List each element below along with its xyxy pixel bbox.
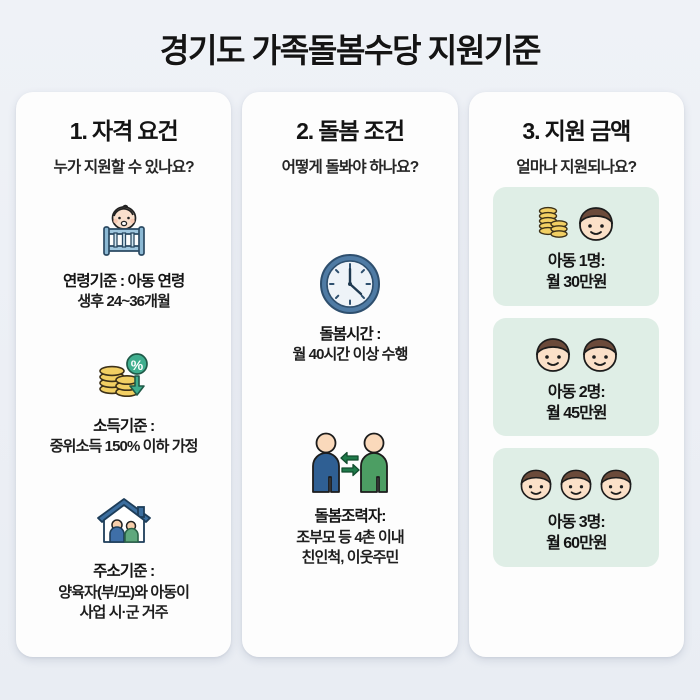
two-people-exchange-icon (306, 427, 394, 501)
cards-container: 1. 자격 요건 누가 지원할 수 있나요? (0, 69, 700, 657)
list-item: % 소득기준 : 중위소득 150% 이하 가정 (26, 345, 221, 458)
item-label: 소득기준 : (93, 417, 154, 437)
coins-and-one-child-icon (535, 197, 618, 249)
amount-line-1: 아동 1명: (548, 252, 605, 273)
item-desc: 조부모 등 4촌 이내 친인척, 이웃주민 (296, 528, 404, 568)
card-qualification[interactable]: 1. 자격 요건 누가 지원할 수 있나요? (16, 92, 231, 657)
card-title-1: 1. 자격 요건 (70, 112, 178, 146)
item-desc: 중위소득 150% 이하 가정 (50, 437, 198, 457)
svg-text:%: % (130, 357, 143, 373)
clock-icon (317, 249, 383, 319)
item-label: 연령기준 : 아동 연령 (63, 272, 184, 292)
house-family-icon (92, 490, 156, 556)
list-item: 돌봄시간 : 월 40시간 이상 수행 (252, 249, 447, 366)
card-subtitle-2: 어떻게 돌봐야 하나요? (282, 155, 419, 177)
amount-box-1-child[interactable]: 아동 1명: 월 30만원 (493, 187, 659, 306)
card-wrap-2: 2. 돌봄 조건 어떻게 돌봐야 하나요? (242, 92, 457, 657)
infographic-page: 경기도 가족돌봄수당 지원기준 1. 자격 요건 누가 지원할 수 있나요? (0, 0, 700, 700)
amount-line-2: 월 30만원 (546, 273, 606, 294)
list-item: 연령기준 : 아동 연령 생후 24~36개월 (26, 200, 221, 313)
list-item: 돌봄조력자: 조부모 등 4촌 이내 친인척, 이웃주민 (252, 427, 447, 568)
item-desc: 양육자(부/모)와 아동이 사업 시·군 거주 (58, 583, 189, 623)
card-subtitle-3: 얼마나 지원되나요? (516, 155, 636, 177)
amount-box-3-children[interactable]: 아동 3명: 월 60만원 (493, 448, 659, 567)
coins-percent-icon: % (93, 345, 155, 411)
baby-crib-icon (93, 200, 155, 266)
amount-list: 아동 1명: 월 30만원 (479, 177, 674, 639)
item-label: 돌봄조력자: (314, 507, 385, 527)
card-2-items: 돌봄시간 : 월 40시간 이상 수행 (252, 177, 447, 639)
card-title-2: 2. 돌봄 조건 (296, 112, 404, 146)
item-label: 돌봄시간 : (319, 325, 380, 345)
card-wrap-1: 1. 자격 요건 누가 지원할 수 있나요? (16, 92, 231, 657)
card-care-condition[interactable]: 2. 돌봄 조건 어떻게 돌봐야 하나요? (242, 92, 457, 657)
amount-box-2-children[interactable]: 아동 2명: 월 45만원 (493, 318, 659, 437)
amount-line-2: 월 45만원 (546, 404, 606, 425)
card-support-amount[interactable]: 3. 지원 금액 얼마나 지원되나요? (469, 92, 684, 657)
two-children-icon (531, 328, 622, 380)
card-subtitle-1: 누가 지원할 수 있나요? (54, 155, 194, 177)
amount-line-1: 아동 3명: (548, 513, 605, 534)
item-label: 주소기준 : (93, 562, 154, 582)
card-title-3: 3. 지원 금액 (522, 112, 630, 146)
item-desc: 생후 24~36개월 (77, 292, 170, 312)
item-desc: 월 40시간 이상 수행 (292, 345, 407, 365)
three-children-icon (516, 458, 636, 510)
card-1-items: 연령기준 : 아동 연령 생후 24~36개월 (26, 177, 221, 639)
page-title: 경기도 가족돌봄수당 지원기준 (11, 0, 690, 69)
amount-line-1: 아동 2명: (548, 383, 605, 404)
card-wrap-3: 3. 지원 금액 얼마나 지원되나요? (469, 92, 684, 657)
amount-line-2: 월 60만원 (546, 534, 606, 555)
list-item: 주소기준 : 양육자(부/모)와 아동이 사업 시·군 거주 (26, 490, 221, 623)
